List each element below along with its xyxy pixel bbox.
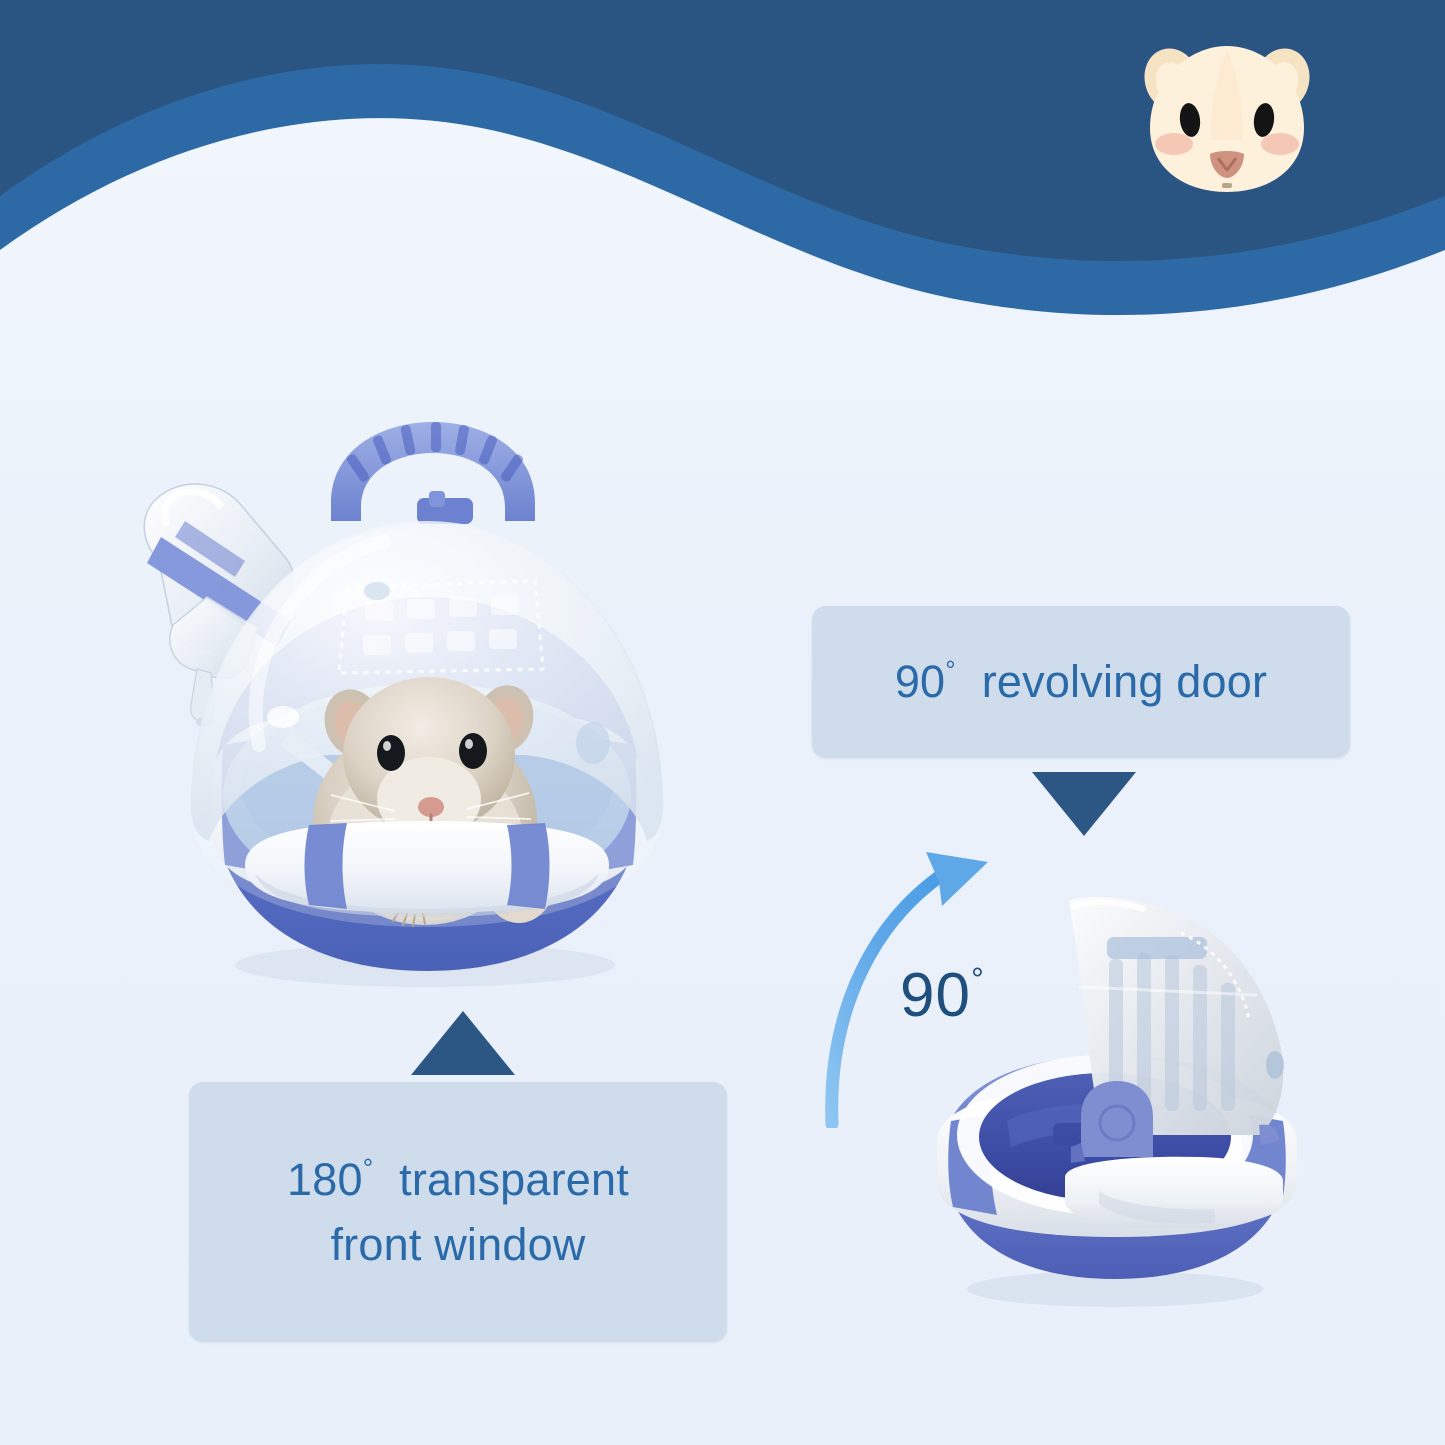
callout-window-text-line1: 180°transparent <box>287 1147 629 1212</box>
pointer-triangle-up <box>411 1011 515 1075</box>
rotation-angle-label: 90° <box>900 960 984 1031</box>
front-window-label-line1: transparent <box>399 1154 629 1205</box>
revolving-door-value: 90 <box>895 656 945 707</box>
degree-symbol: ° <box>363 1153 373 1183</box>
degree-symbol: ° <box>971 961 984 997</box>
infographic-canvas: 90° 90°revolving door 180°transparent fr… <box>0 0 1445 1445</box>
main-product-image <box>95 325 755 1005</box>
callout-revolving-door[interactable]: 90°revolving door <box>812 606 1350 758</box>
callout-revolving-door-text: 90°revolving door <box>895 649 1267 714</box>
callout-transparent-front-window[interactable]: 180°transparent front window <box>189 1082 727 1342</box>
degree-symbol: ° <box>945 655 955 685</box>
pointer-triangle-down <box>1032 772 1136 836</box>
revolving-door-label: revolving door <box>982 656 1267 707</box>
callout-window-text-line2: front window <box>330 1212 585 1277</box>
front-window-value: 180 <box>287 1154 363 1205</box>
hamster-face-logo <box>1134 36 1320 201</box>
rotation-angle-value: 90 <box>900 961 971 1030</box>
